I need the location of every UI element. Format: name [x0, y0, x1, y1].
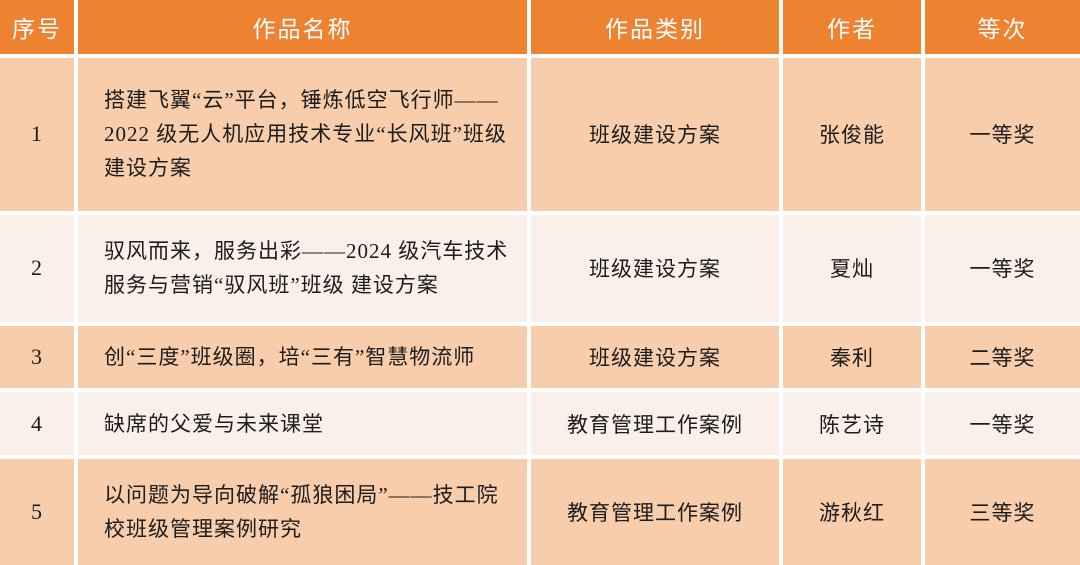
table-header-row: 序号 作品名称 作品类别 作者 等次	[0, 0, 1080, 58]
cell-category: 教育管理工作案例	[531, 392, 783, 458]
cell-author: 游秋红	[783, 459, 925, 565]
cell-category: 班级建设方案	[531, 326, 783, 392]
cell-author: 陈艺诗	[783, 392, 925, 458]
cell-author: 秦利	[783, 326, 925, 392]
cell-title: 缺席的父爱与未来课堂	[78, 392, 531, 458]
cell-grade: 一等奖	[925, 392, 1080, 458]
table-row: 1 搭建飞翼“云”平台，锤炼低空飞行师——2022 级无人机应用技术专业“长风班…	[0, 58, 1080, 215]
cell-title: 以问题为导向破解“孤狼困局”——技工院校班级管理案例研究	[78, 459, 531, 565]
cell-title: 搭建飞翼“云”平台，锤炼低空飞行师——2022 级无人机应用技术专业“长风班”班…	[78, 58, 531, 215]
award-results-table: 序号 作品名称 作品类别 作者 等次 1 搭建飞翼“云”平台，锤炼低空飞行师——…	[0, 0, 1080, 565]
column-header-category: 作品类别	[531, 0, 783, 58]
cell-seq: 5	[0, 459, 78, 565]
table-row: 5 以问题为导向破解“孤狼困局”——技工院校班级管理案例研究 教育管理工作案例 …	[0, 459, 1080, 565]
cell-grade: 一等奖	[925, 58, 1080, 215]
column-header-grade: 等次	[925, 0, 1080, 58]
table-row: 4 缺席的父爱与未来课堂 教育管理工作案例 陈艺诗 一等奖	[0, 392, 1080, 458]
table-header: 序号 作品名称 作品类别 作者 等次	[0, 0, 1080, 58]
cell-author: 张俊能	[783, 58, 925, 215]
cell-grade: 二等奖	[925, 326, 1080, 392]
table-body: 1 搭建飞翼“云”平台，锤炼低空飞行师——2022 级无人机应用技术专业“长风班…	[0, 58, 1080, 565]
cell-title: 驭风而来，服务出彩——2024 级汽车技术服务与营销“驭风班”班级 建设方案	[78, 215, 531, 326]
table-row: 3 创“三度”班级圈，培“三有”智慧物流师 班级建设方案 秦利 二等奖	[0, 326, 1080, 392]
cell-category: 班级建设方案	[531, 215, 783, 326]
cell-seq: 4	[0, 392, 78, 458]
cell-category: 班级建设方案	[531, 58, 783, 215]
cell-seq: 2	[0, 215, 78, 326]
cell-seq: 1	[0, 58, 78, 215]
cell-grade: 三等奖	[925, 459, 1080, 565]
cell-author: 夏灿	[783, 215, 925, 326]
cell-title: 创“三度”班级圈，培“三有”智慧物流师	[78, 326, 531, 392]
column-header-seq: 序号	[0, 0, 78, 58]
cell-grade: 一等奖	[925, 215, 1080, 326]
cell-seq: 3	[0, 326, 78, 392]
column-header-title: 作品名称	[78, 0, 531, 58]
table-row: 2 驭风而来，服务出彩——2024 级汽车技术服务与营销“驭风班”班级 建设方案…	[0, 215, 1080, 326]
column-header-author: 作者	[783, 0, 925, 58]
cell-category: 教育管理工作案例	[531, 459, 783, 565]
